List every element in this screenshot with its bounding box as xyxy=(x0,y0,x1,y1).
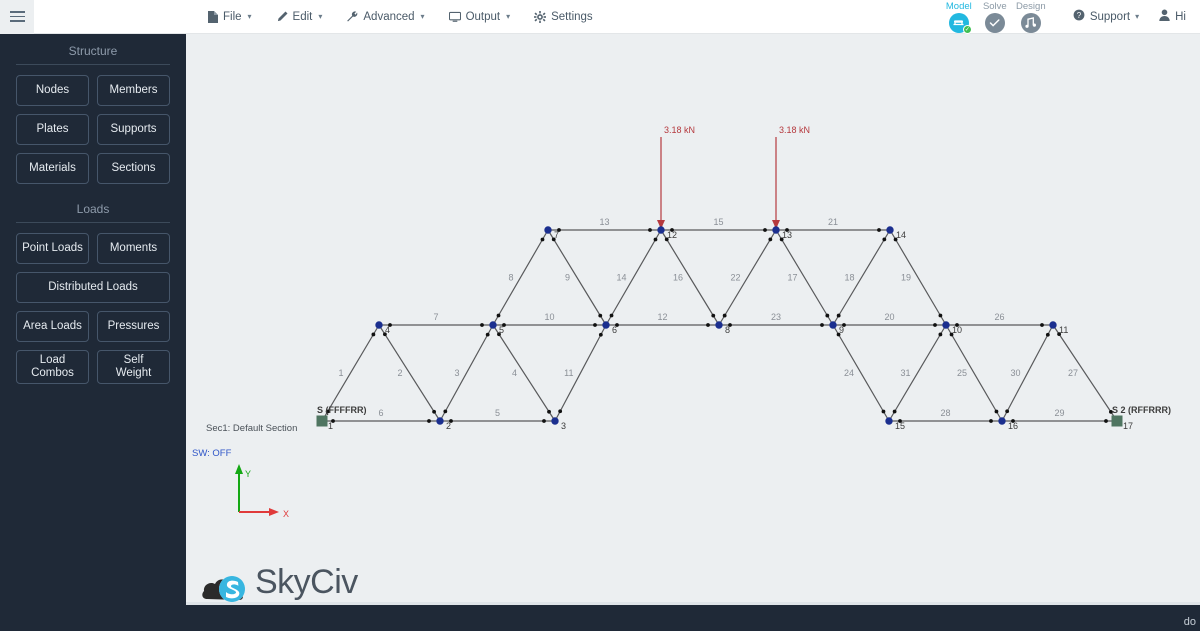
member-label: 11 xyxy=(564,368,573,378)
member-label: 7 xyxy=(433,312,438,322)
member-release-dot xyxy=(723,314,727,318)
member-label: 14 xyxy=(616,273,626,283)
member[interactable]: 9 xyxy=(548,230,606,325)
node-label: 1 xyxy=(328,421,333,431)
member[interactable]: 20 xyxy=(833,312,946,327)
node[interactable]: 13 xyxy=(772,226,792,240)
sidebar-button-area-loads[interactable]: Area Loads xyxy=(16,311,89,342)
member[interactable]: 29 xyxy=(1002,408,1117,423)
gear-icon xyxy=(534,11,546,23)
node-marker[interactable] xyxy=(715,321,722,328)
member[interactable]: 2 xyxy=(379,325,440,421)
member[interactable]: 7 xyxy=(379,312,493,327)
member[interactable]: 13 xyxy=(548,217,661,232)
status-badge: ✓ xyxy=(963,25,972,34)
member-release-dot xyxy=(558,409,562,413)
member[interactable]: 14 xyxy=(606,230,661,325)
member-release-dot xyxy=(480,323,484,327)
sidebar-button-distributed-loads[interactable]: Distributed Loads xyxy=(16,272,170,303)
support-marker[interactable] xyxy=(317,416,328,427)
member-line[interactable] xyxy=(776,230,833,325)
design-icon xyxy=(1021,13,1041,33)
member-label: 24 xyxy=(844,368,854,378)
member-label: 12 xyxy=(657,312,667,322)
node-label: 16 xyxy=(1008,421,1018,431)
member-release-dot xyxy=(547,410,551,414)
axis-indicator: Y X xyxy=(235,464,289,519)
member-release-dot xyxy=(711,314,715,318)
support[interactable]: S 2 (RFFRRR) xyxy=(1112,405,1172,427)
member[interactable]: 17 xyxy=(776,230,833,325)
menu-label: Advanced xyxy=(363,11,414,23)
member-label: 9 xyxy=(565,273,570,283)
member-label: 6 xyxy=(378,408,383,418)
node-label: 5 xyxy=(499,325,504,335)
sidebar-button-self-weight[interactable]: Self Weight xyxy=(97,350,170,384)
chevron-down-icon: ▾ xyxy=(421,12,425,21)
svg-text:?: ? xyxy=(1077,11,1082,20)
user-icon xyxy=(1159,9,1170,24)
member-release-dot xyxy=(443,409,447,413)
member-line[interactable] xyxy=(833,325,889,421)
menu-label: Settings xyxy=(551,11,593,23)
member[interactable]: 15 xyxy=(661,217,776,232)
member-label: 15 xyxy=(713,217,723,227)
point-loads-group: 3.18 kN3.18 kN xyxy=(657,125,810,229)
user-menu[interactable]: Hi xyxy=(1149,0,1196,34)
member-line[interactable] xyxy=(548,230,606,325)
member[interactable]: 4 xyxy=(493,325,555,421)
member[interactable]: 10 xyxy=(493,312,606,327)
member-label: 25 xyxy=(957,368,967,378)
member-line[interactable] xyxy=(946,325,1002,421)
sidebar-row: Point LoadsMoments xyxy=(16,233,170,264)
node-marker[interactable] xyxy=(885,417,892,424)
member[interactable]: 3 xyxy=(440,325,493,421)
member-line[interactable] xyxy=(719,230,776,325)
node-marker[interactable] xyxy=(375,321,382,328)
menu-file[interactable]: File▾ xyxy=(194,0,264,34)
member[interactable]: 8 xyxy=(493,230,548,325)
main-menu: File▾Edit▾Advanced▾Output▾Settings xyxy=(194,0,605,34)
member[interactable]: 5 xyxy=(440,408,555,423)
member-line[interactable] xyxy=(1053,325,1117,421)
member-release-dot xyxy=(648,228,652,232)
node-marker[interactable] xyxy=(602,321,609,328)
member-line[interactable] xyxy=(555,325,606,421)
hamburger-menu-icon[interactable] xyxy=(0,0,34,34)
sidebar-button-pressures[interactable]: Pressures xyxy=(97,311,170,342)
node-label: 10 xyxy=(952,325,962,335)
member-release-dot xyxy=(893,410,897,414)
load-label: 3.18 kN xyxy=(664,125,695,135)
sidebar-row: Distributed Loads xyxy=(16,272,170,303)
member-label: 22 xyxy=(730,273,740,283)
member-label: 1 xyxy=(338,368,343,378)
member-label: 13 xyxy=(599,217,609,227)
member-line[interactable] xyxy=(833,230,890,325)
monitor-icon xyxy=(449,11,461,23)
member-line[interactable] xyxy=(440,325,493,421)
menu-edit[interactable]: Edit▾ xyxy=(264,0,335,34)
node[interactable]: 7 xyxy=(544,226,559,240)
node-label: 6 xyxy=(612,325,617,335)
node[interactable]: 1 xyxy=(328,421,333,431)
node[interactable]: 10 xyxy=(942,321,962,335)
member-label: 26 xyxy=(994,312,1004,322)
member-line[interactable] xyxy=(661,230,719,325)
member-release-dot xyxy=(995,410,999,414)
node-marker[interactable] xyxy=(1049,321,1056,328)
node[interactable]: 2 xyxy=(436,417,451,431)
member-release-dot xyxy=(427,419,431,423)
member-release-dot xyxy=(989,419,993,423)
axis-label-y: Y xyxy=(245,469,251,479)
support-marker[interactable] xyxy=(1112,416,1123,427)
member[interactable]: 12 xyxy=(606,312,719,327)
sidebar-button-sections[interactable]: Sections xyxy=(97,153,170,184)
member-label: 21 xyxy=(828,217,838,227)
member-label: 23 xyxy=(771,312,781,322)
member-release-dot xyxy=(432,410,436,414)
sidebar-button-point-loads[interactable]: Point Loads xyxy=(16,233,89,264)
member-label: 19 xyxy=(901,273,911,283)
member-release-dot xyxy=(497,314,501,318)
node-marker[interactable] xyxy=(436,417,443,424)
member-release-dot xyxy=(610,314,614,318)
member-release-dot xyxy=(768,238,772,242)
model-icon: ✓ xyxy=(949,13,969,33)
member[interactable]: 24 xyxy=(833,325,889,421)
node-marker[interactable] xyxy=(942,321,949,328)
member[interactable]: 18 xyxy=(833,230,890,325)
menu-output[interactable]: Output▾ xyxy=(437,0,523,34)
sidebar-row: PlatesSupports xyxy=(16,114,170,145)
member[interactable]: 21 xyxy=(776,217,890,232)
support-menu[interactable]: ?Support▾ xyxy=(1063,0,1149,34)
member-release-dot xyxy=(837,314,841,318)
node-marker[interactable] xyxy=(998,417,1005,424)
node-marker[interactable] xyxy=(544,226,551,233)
member-label: 28 xyxy=(940,408,950,418)
node[interactable]: 8 xyxy=(715,321,730,335)
member-label: 27 xyxy=(1068,368,1078,378)
member-line[interactable] xyxy=(493,325,555,421)
node-label: 2 xyxy=(446,421,451,431)
member[interactable]: 25 xyxy=(946,325,1002,421)
node[interactable]: 9 xyxy=(829,321,844,335)
sidebar-button-nodes[interactable]: Nodes xyxy=(16,75,89,106)
section-label: Sec1: Default Section xyxy=(206,423,297,434)
nodes-group: 1234567891011121314151617 xyxy=(328,226,1133,431)
mode-button-design[interactable]: Design xyxy=(1013,0,1049,33)
menu-label: File xyxy=(223,11,242,23)
bottom-bar-text: do xyxy=(1184,616,1196,628)
node-label: 11 xyxy=(1059,325,1068,335)
sidebar-row: Load CombosSelf Weight xyxy=(16,350,170,384)
member[interactable]: 16 xyxy=(661,230,719,325)
pencil-icon xyxy=(276,11,288,23)
mode-button-solve[interactable]: Solve xyxy=(977,0,1013,33)
member-label: 3 xyxy=(454,368,459,378)
node[interactable]: 3 xyxy=(551,417,566,431)
load-label: 3.18 kN xyxy=(779,125,810,135)
member-line[interactable] xyxy=(889,325,946,421)
members-group: 1234567891011121314151617181920212223242… xyxy=(322,217,1117,423)
member-release-dot xyxy=(598,314,602,318)
node-label: 17 xyxy=(1123,421,1133,431)
member[interactable]: 26 xyxy=(946,312,1053,327)
support[interactable]: S (FFFFRR) xyxy=(317,405,367,427)
member-release-dot xyxy=(1104,419,1108,423)
member[interactable]: 23 xyxy=(719,312,833,327)
node-marker[interactable] xyxy=(772,226,779,233)
top-header-bar: File▾Edit▾Advanced▾Output▾Settings Model… xyxy=(0,0,1200,34)
member-release-dot xyxy=(939,314,943,318)
member-release-dot xyxy=(541,238,545,242)
support-label: Support xyxy=(1090,11,1130,23)
member-label: 16 xyxy=(673,273,683,283)
member-release-dot xyxy=(486,333,490,337)
sidebar-button-plates[interactable]: Plates xyxy=(16,114,89,145)
structural-model-drawing[interactable]: 1234567891011121314151617181920212223242… xyxy=(186,34,1200,631)
member[interactable]: 30 xyxy=(1002,325,1053,421)
sidebar-divider xyxy=(16,64,170,65)
member-release-dot xyxy=(1040,323,1044,327)
member-release-dot xyxy=(938,333,942,337)
member-label: 20 xyxy=(884,312,894,322)
selfweight-label: SW: OFF xyxy=(192,448,232,459)
point-load[interactable]: 3.18 kN xyxy=(657,125,695,229)
solve-icon xyxy=(985,13,1005,33)
member-label: 8 xyxy=(508,273,513,283)
member-release-dot xyxy=(371,333,375,337)
mode-label: Model xyxy=(946,1,972,12)
member-line[interactable] xyxy=(606,230,661,325)
sidebar-row: Area LoadsPressures xyxy=(16,311,170,342)
member-label: 18 xyxy=(844,273,854,283)
left-sidebar: StructureNodesMembersPlatesSupportsMater… xyxy=(0,34,186,631)
member[interactable]: 28 xyxy=(889,408,1002,423)
wrench-icon xyxy=(346,11,358,23)
node-label: 13 xyxy=(782,230,792,240)
member-release-dot xyxy=(1046,333,1050,337)
member-line[interactable] xyxy=(379,325,440,421)
node[interactable]: 17 xyxy=(1123,421,1133,431)
question-circle-icon: ? xyxy=(1073,9,1085,24)
member[interactable]: 22 xyxy=(719,230,776,325)
member-release-dot xyxy=(593,323,597,327)
node[interactable]: 14 xyxy=(886,226,906,240)
user-label: Hi xyxy=(1175,11,1186,23)
chevron-down-icon: ▾ xyxy=(1135,12,1139,21)
sidebar-section-title-loads: Loads xyxy=(16,192,170,222)
node-label: 7 xyxy=(554,230,559,240)
sidebar-button-supports[interactable]: Supports xyxy=(97,114,170,145)
node-marker[interactable] xyxy=(657,226,664,233)
node-label: 8 xyxy=(725,325,730,335)
member-release-dot xyxy=(706,323,710,327)
skyciv-logo-wordmark: SkyCiv xyxy=(255,565,391,599)
member-release-dot xyxy=(599,333,603,337)
mode-label: Design xyxy=(1016,1,1046,12)
model-canvas[interactable]: 1234567891011121314151617181920212223242… xyxy=(186,34,1200,631)
sidebar-button-members[interactable]: Members xyxy=(97,75,170,106)
sidebar-row: NodesMembers xyxy=(16,75,170,106)
member-release-dot xyxy=(882,410,886,414)
node-marker[interactable] xyxy=(489,321,496,328)
sidebar-row: MaterialsSections xyxy=(16,153,170,184)
support-label: S (FFFFRR) xyxy=(317,405,367,415)
node[interactable]: 16 xyxy=(998,417,1018,431)
chevron-down-icon: ▾ xyxy=(318,12,322,21)
member-release-dot xyxy=(825,314,829,318)
member-label: 2 xyxy=(397,368,402,378)
header-right-group: Model✓SolveDesign?Support▾Hi xyxy=(941,0,1200,34)
point-load[interactable]: 3.18 kN xyxy=(772,125,810,229)
skyciv-structural-3d-app: File▾Edit▾Advanced▾Output▾Settings Model… xyxy=(0,0,1200,631)
menu-label: Edit xyxy=(293,11,313,23)
node-label: 15 xyxy=(895,421,905,431)
node[interactable]: 5 xyxy=(489,321,504,335)
node-label: 14 xyxy=(896,230,906,240)
mode-button-model[interactable]: Model✓ xyxy=(941,0,977,33)
member-release-dot xyxy=(542,419,546,423)
member-label: 31 xyxy=(900,368,910,378)
chevron-down-icon: ▾ xyxy=(506,12,510,21)
supports-group: S (FFFFRR)S 2 (RFFRRR) xyxy=(317,405,1172,427)
node-marker[interactable] xyxy=(829,321,836,328)
sidebar-section-title-structure: Structure xyxy=(16,34,170,64)
menu-advanced[interactable]: Advanced▾ xyxy=(334,0,436,34)
member-release-dot xyxy=(763,228,767,232)
member-label: 4 xyxy=(512,368,517,378)
support-label: S 2 (RFFRRR) xyxy=(1112,405,1171,415)
member-line[interactable] xyxy=(890,230,946,325)
member-release-dot xyxy=(820,323,824,327)
member-label: 5 xyxy=(495,408,500,418)
node[interactable]: 11 xyxy=(1049,321,1068,335)
node[interactable]: 15 xyxy=(885,417,905,431)
member-release-dot xyxy=(882,238,886,242)
member-label: 10 xyxy=(544,312,554,322)
member-label: 29 xyxy=(1054,408,1064,418)
mode-label: Solve xyxy=(983,1,1007,12)
menu-label: Output xyxy=(466,11,501,23)
member[interactable]: 27 xyxy=(1053,325,1117,421)
node[interactable]: 4 xyxy=(375,321,390,335)
menu-settings[interactable]: Settings xyxy=(522,0,605,34)
member[interactable]: 19 xyxy=(890,230,946,325)
chevron-down-icon: ▾ xyxy=(248,12,252,21)
node-label: 12 xyxy=(667,230,677,240)
node-label: 4 xyxy=(385,325,390,335)
sidebar-divider xyxy=(16,222,170,223)
file-icon xyxy=(206,11,218,23)
node-label: 9 xyxy=(839,325,844,335)
node[interactable]: 6 xyxy=(602,321,617,335)
node-label: 3 xyxy=(561,421,566,431)
bottom-status-bar: do xyxy=(0,605,1200,631)
node[interactable]: 12 xyxy=(657,226,677,240)
member-label: 30 xyxy=(1010,368,1020,378)
member-release-dot xyxy=(933,323,937,327)
axis-label-x: X xyxy=(283,509,289,519)
member-line[interactable] xyxy=(493,230,548,325)
node-marker[interactable] xyxy=(886,226,893,233)
sidebar-button-moments[interactable]: Moments xyxy=(97,233,170,264)
member-release-dot xyxy=(877,228,881,232)
member-label: 17 xyxy=(787,273,797,283)
member[interactable]: 31 xyxy=(889,325,946,421)
node-marker[interactable] xyxy=(551,417,558,424)
member-release-dot xyxy=(1005,409,1009,413)
sidebar-button-materials[interactable]: Materials xyxy=(16,153,89,184)
member-release-dot xyxy=(654,238,658,242)
member[interactable]: 11 xyxy=(555,325,606,421)
sidebar-button-load-combos[interactable]: Load Combos xyxy=(16,350,89,384)
